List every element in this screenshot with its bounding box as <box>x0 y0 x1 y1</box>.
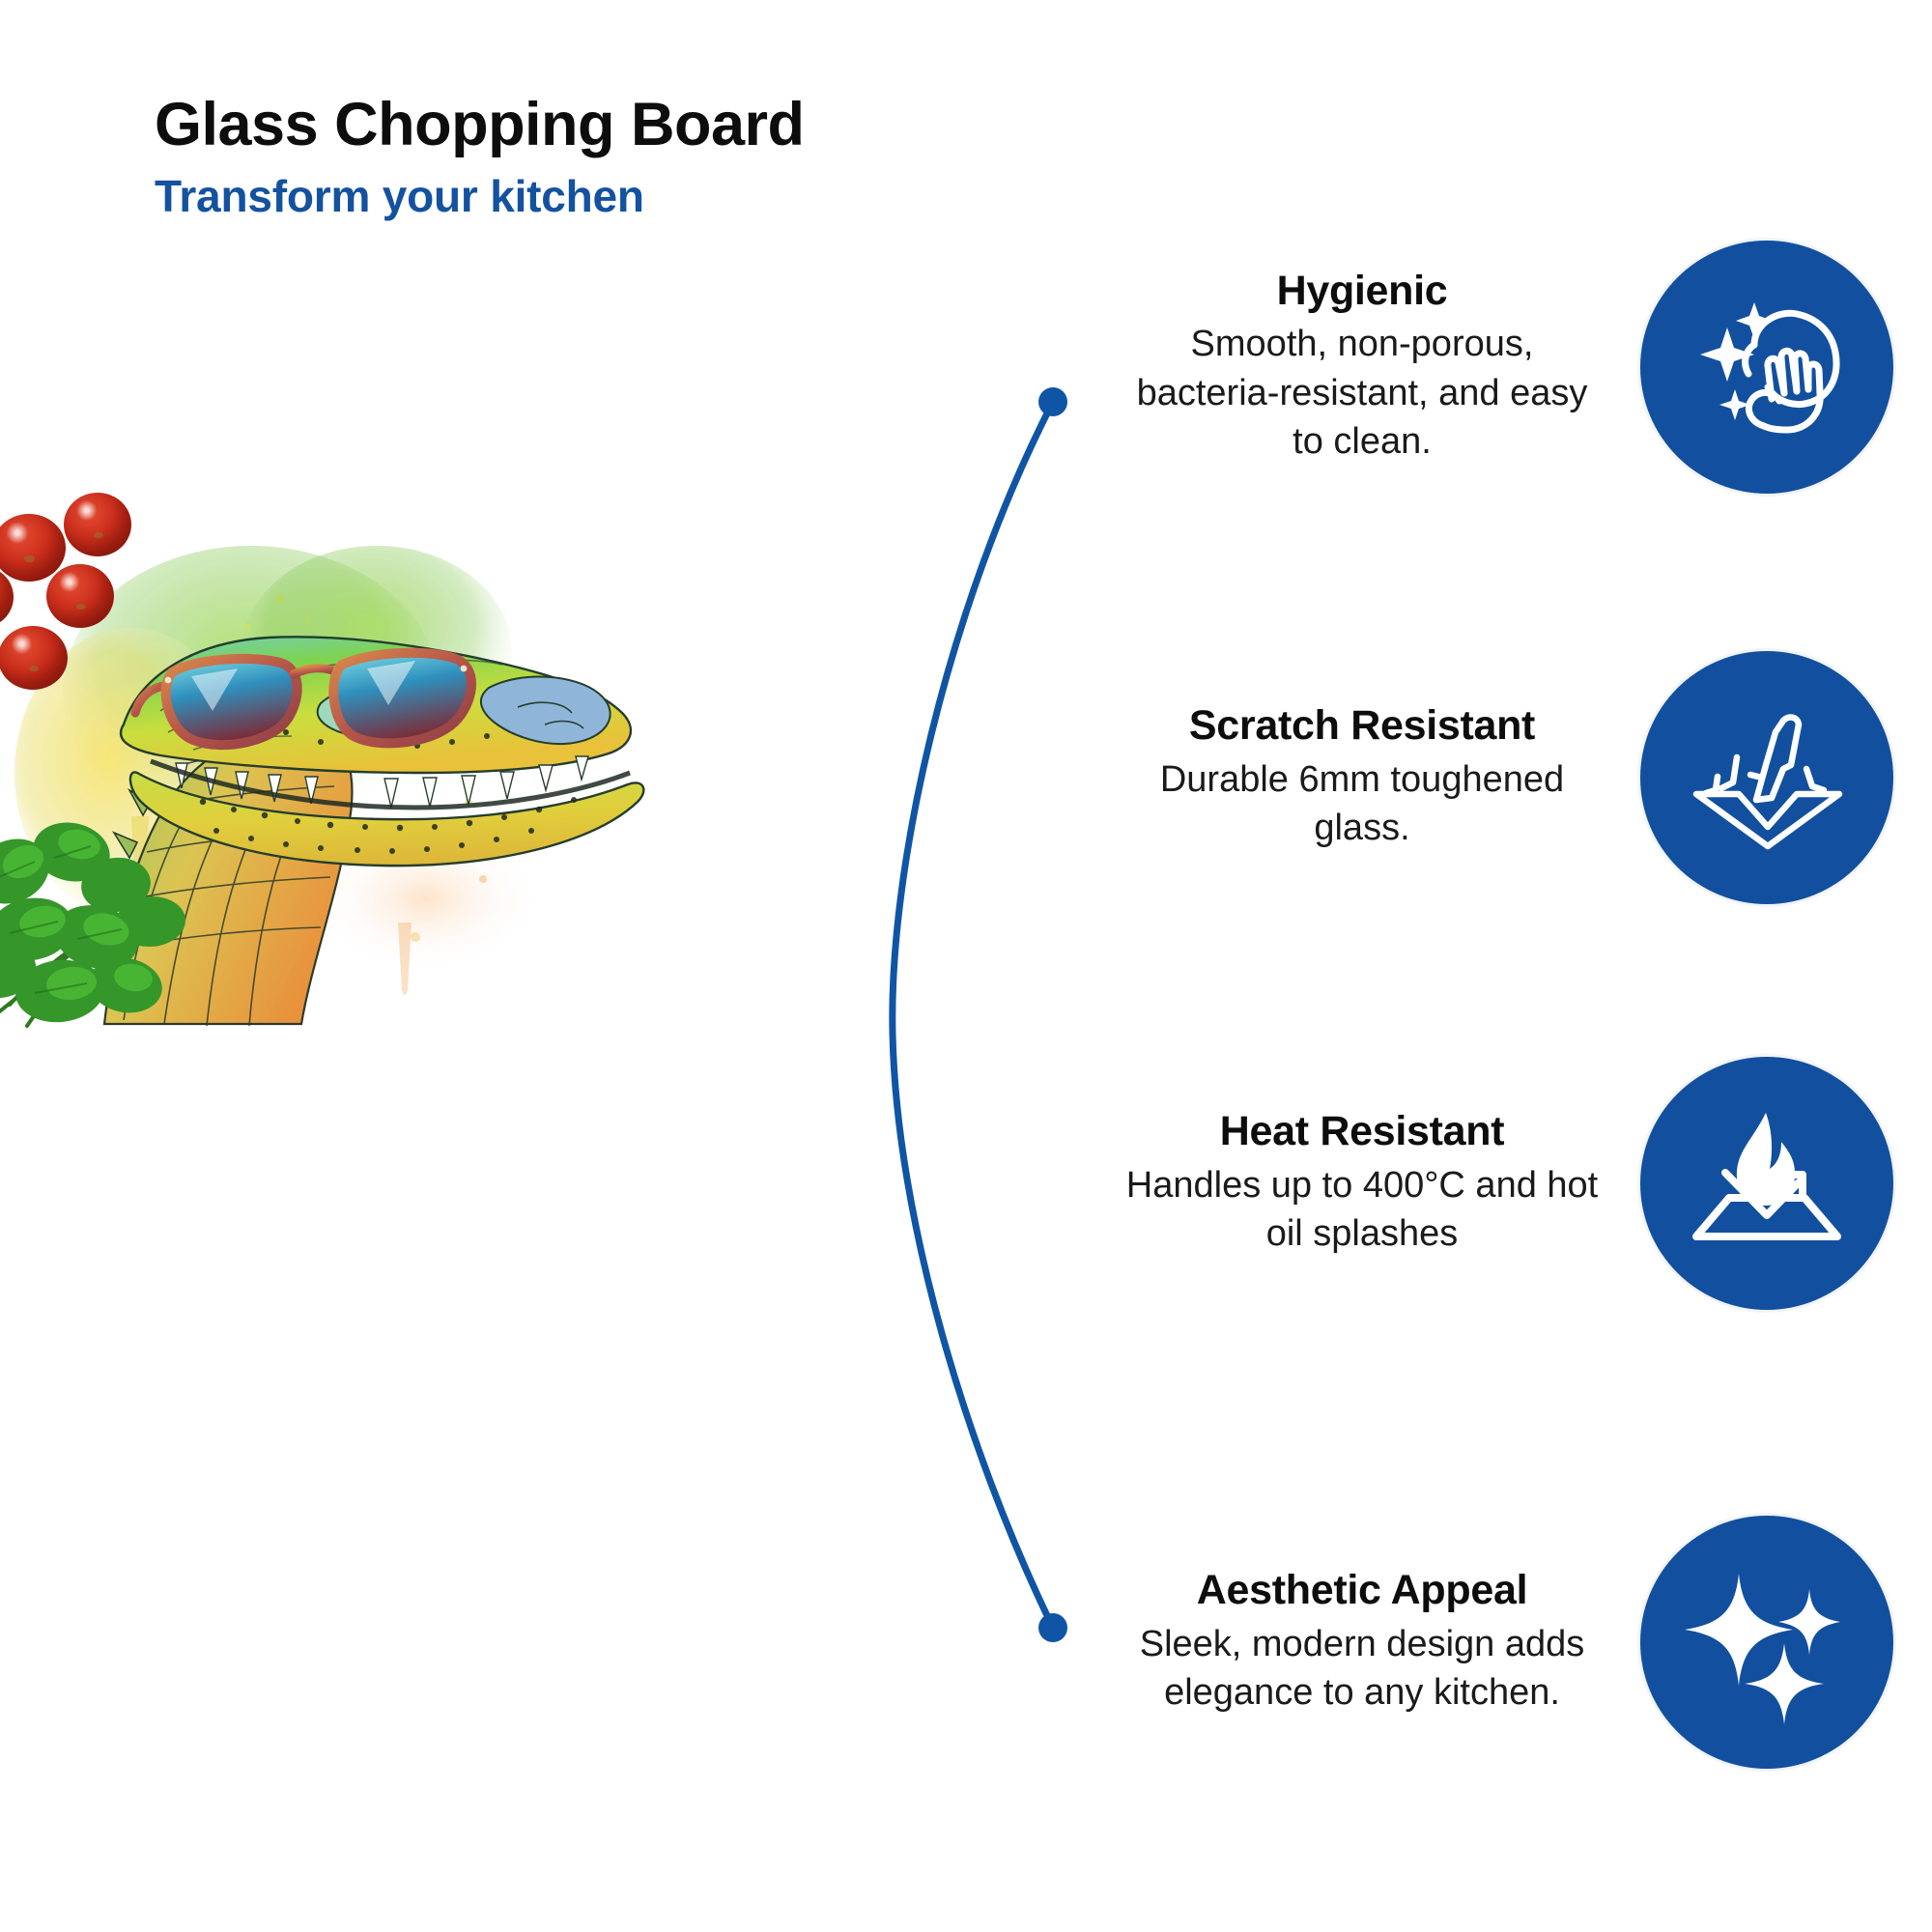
infographic-page: { "header": { "title": "Glass Chopping B… <box>0 0 1932 1932</box>
feature-heat-resistant: Heat Resistant Handles up to 400°C and h… <box>1043 1024 1893 1343</box>
page-title: Glass Chopping Board <box>155 93 805 156</box>
feature-text: Scratch Resistant Durable 6mm toughened … <box>1121 702 1604 852</box>
feature-description: Durable 6mm toughened glass. <box>1121 755 1604 853</box>
feature-description: Handles up to 400°C and hot oil splashes <box>1121 1161 1604 1259</box>
cherry-tomato <box>0 626 68 690</box>
feature-title: Scratch Resistant <box>1121 702 1604 749</box>
cherry-tomato <box>46 564 114 628</box>
feature-aesthetic-appeal: Aesthetic Appeal Sleek, modern design ad… <box>1043 1483 1893 1802</box>
connector-curve <box>831 367 1121 1662</box>
feature-description: Smooth, non-porous, bacteria-resistant, … <box>1121 320 1604 467</box>
feature-title: Heat Resistant <box>1121 1108 1604 1154</box>
feature-description: Sleek, modern design adds elegance to an… <box>1121 1620 1604 1718</box>
flame-deflect-surface-icon <box>1640 1057 1893 1310</box>
header: Glass Chopping Board Transform your kitc… <box>155 93 805 221</box>
feature-text: Heat Resistant Handles up to 400°C and h… <box>1121 1108 1604 1258</box>
product-image <box>0 483 696 1082</box>
feature-text: Hygienic Smooth, non-porous, bacteria-re… <box>1121 268 1604 467</box>
cherry-tomato <box>64 493 131 556</box>
knife-scratch-surface-icon <box>1640 651 1893 904</box>
cleaning-hand-sparkle-icon <box>1640 241 1893 494</box>
sparkle-stars-icon <box>1640 1516 1893 1769</box>
feature-hygienic: Hygienic Smooth, non-porous, bacteria-re… <box>1043 208 1893 526</box>
feature-title: Hygienic <box>1121 268 1604 314</box>
feature-scratch-resistant: Scratch Resistant Durable 6mm toughened … <box>1043 618 1893 937</box>
page-subtitle: Transform your kitchen <box>155 172 805 221</box>
feature-text: Aesthetic Appeal Sleek, modern design ad… <box>1121 1567 1604 1717</box>
feature-title: Aesthetic Appeal <box>1121 1567 1604 1613</box>
